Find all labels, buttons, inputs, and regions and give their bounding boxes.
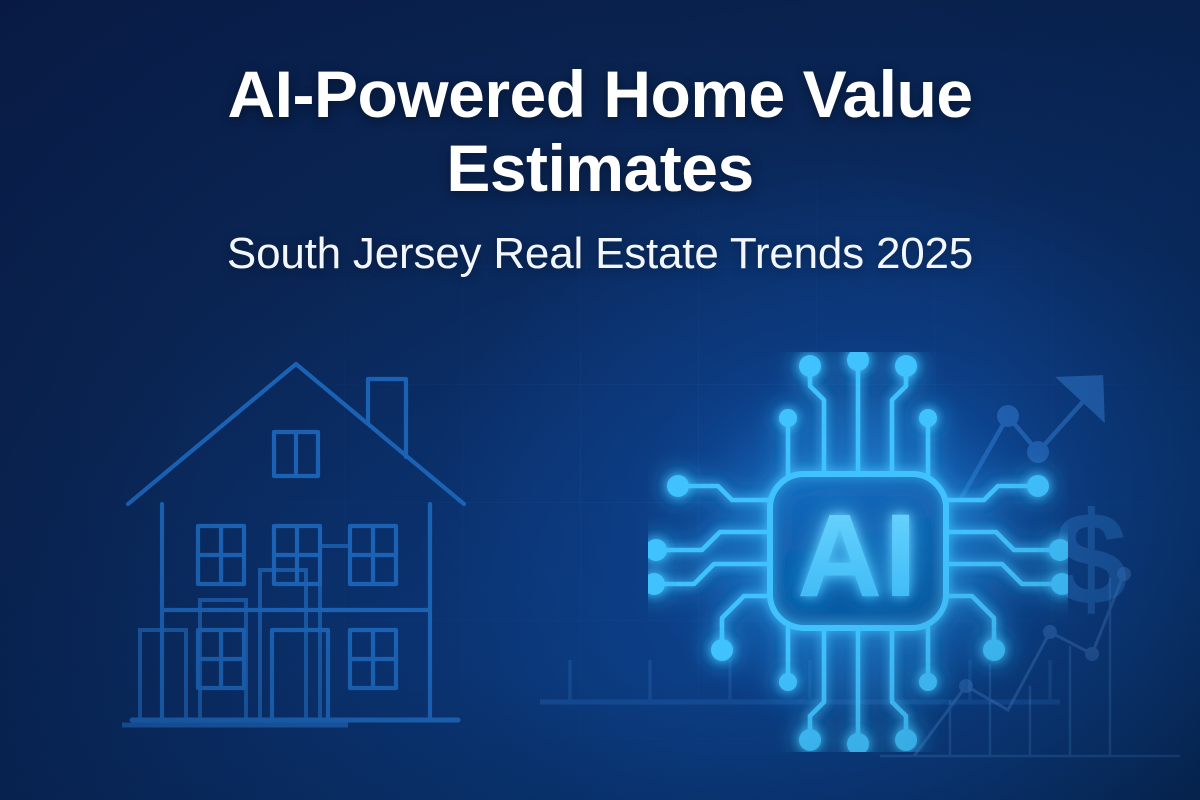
page-subtitle: South Jersey Real Estate Trends 2025: [0, 228, 1200, 281]
ai-chip-graphic: AI: [648, 352, 1068, 752]
chip-ai-label: AI: [797, 490, 919, 622]
house-graphic: [118, 352, 488, 732]
banner-canvas: $: [0, 0, 1200, 800]
headline-block: AI-Powered Home Value Estimates South Je…: [0, 58, 1200, 281]
page-title: AI-Powered Home Value Estimates: [0, 58, 1200, 206]
